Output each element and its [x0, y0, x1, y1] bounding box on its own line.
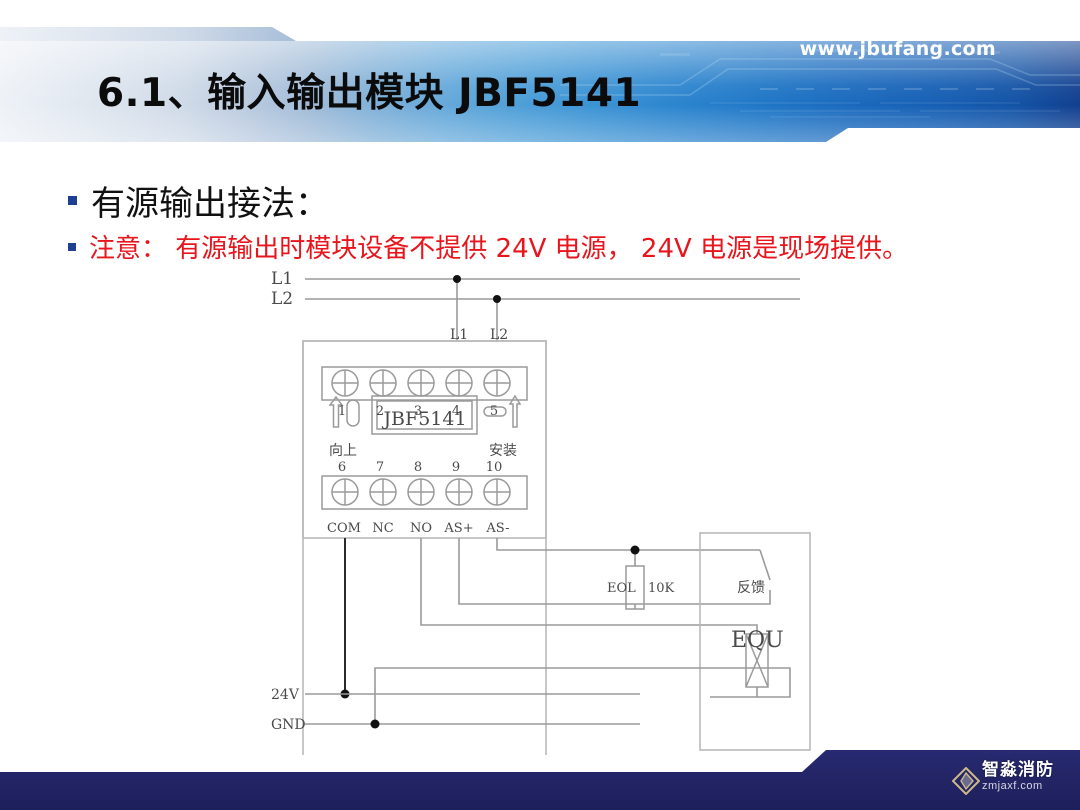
eol-value-label: 10K: [648, 581, 675, 596]
module-model-label: JBF5141: [381, 408, 466, 430]
rail-gnd-label: GND: [271, 717, 306, 733]
feedback-label: 反馈: [737, 580, 765, 596]
terminal-num-5: 5: [490, 404, 498, 419]
terminal-screws-bottom: [332, 479, 510, 505]
terminal-num-10: 10: [486, 460, 503, 475]
terminal-screws-top: [332, 370, 510, 396]
eol-label: EOL: [607, 581, 636, 596]
mount-label: 安装: [489, 443, 517, 459]
wiring-diagram: .wire{stroke:#9a9a9a;stroke-width:1.6;fi…: [0, 255, 1080, 755]
header-band: 6.1、输入输出模块 JBF5141: [0, 0, 1080, 160]
terminal-tag-l2: L2: [490, 327, 508, 343]
orientation-label: 向上: [329, 443, 357, 459]
page-title: 6.1、输入输出模块 JBF5141: [97, 62, 641, 118]
rail-l2-label: L2: [271, 289, 293, 309]
equipment-label: EQU: [731, 628, 784, 653]
terminal-num-6: 6: [338, 460, 346, 475]
terminal-num-8: 8: [414, 460, 422, 475]
footer-website-url[interactable]: www.jbufang.com: [800, 38, 996, 60]
terminal-tag-l1: L1: [450, 327, 468, 343]
terminal-num-9: 9: [452, 460, 460, 475]
square-bullet-icon: [68, 243, 76, 251]
bullet-item-0-label: 有源输出接法：: [91, 176, 329, 225]
square-bullet-icon: [68, 196, 77, 205]
slide-root: 6.1、输入输出模块 JBF5141 有源输出接法： 注意： 有源输出时模块设备…: [0, 0, 1080, 810]
terminal-label-nc: NC: [372, 521, 393, 536]
terminal-num-7: 7: [376, 460, 384, 475]
rail-24v-label: 24V: [271, 687, 300, 703]
footer-band: [0, 736, 1080, 810]
rail-l1-label: L1: [271, 269, 293, 289]
terminal-label-no: NO: [410, 521, 432, 536]
terminal-label-com: COM: [327, 521, 361, 536]
footer-band-shape: [0, 736, 1080, 810]
terminal-num-1: 1: [338, 404, 346, 419]
terminal-label-as-plus: AS+: [443, 521, 473, 536]
terminal-label-as-minus: AS-: [485, 521, 509, 536]
bullet-item-0: 有源输出接法：: [68, 176, 329, 225]
